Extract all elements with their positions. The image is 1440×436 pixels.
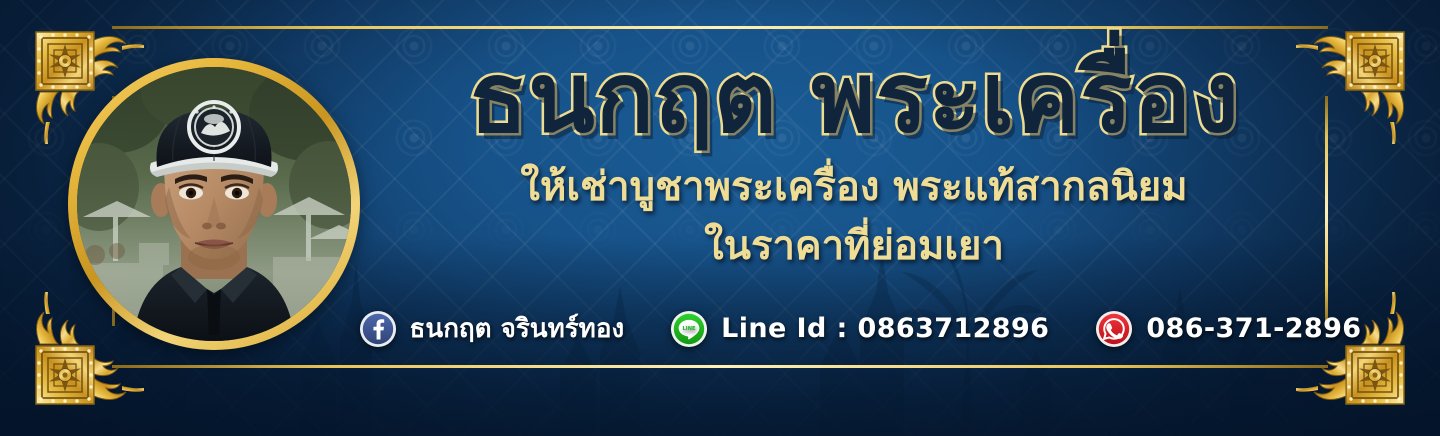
frame-line-bottom (112, 365, 1328, 368)
subtitle-line-1: ให้เช่าบูชาพระเครื่อง พระแท้สากลนิยม (372, 165, 1336, 210)
contact-line[interactable]: LINE Line Id : 0863712896 (670, 310, 1049, 348)
contact-facebook[interactable]: ธนกฤต จรินทร์ทอง (359, 308, 625, 349)
frame-line-top (112, 26, 1328, 29)
headline-block: ธนกฤต พระเครื่อง ให้เช่าบูชาพระเครื่อง พ… (372, 46, 1336, 268)
portrait-photo (77, 67, 351, 341)
page-title: ธนกฤต พระเครื่อง (372, 46, 1336, 151)
contact-line-label: Line Id : 0863712896 (721, 313, 1049, 344)
promo-banner: ธนกฤต พระเครื่อง ให้เช่าบูชาพระเครื่อง พ… (0, 0, 1440, 436)
whatsapp-icon[interactable] (1095, 310, 1133, 348)
facebook-icon[interactable] (359, 310, 397, 348)
avatar (68, 58, 360, 350)
subtitle-line-2: ในราคาที่ย่อมเยา (372, 224, 1336, 269)
svg-text:LINE: LINE (683, 326, 696, 332)
contact-facebook-label: ธนกฤต จรินทร์ทอง (410, 308, 625, 349)
line-icon[interactable]: LINE (670, 310, 708, 348)
contact-whatsapp-label: 086-371-2896 (1146, 313, 1361, 344)
contact-row: ธนกฤต จรินทร์ทอง LINE (372, 308, 1348, 349)
contact-whatsapp[interactable]: 086-371-2896 (1095, 310, 1361, 348)
